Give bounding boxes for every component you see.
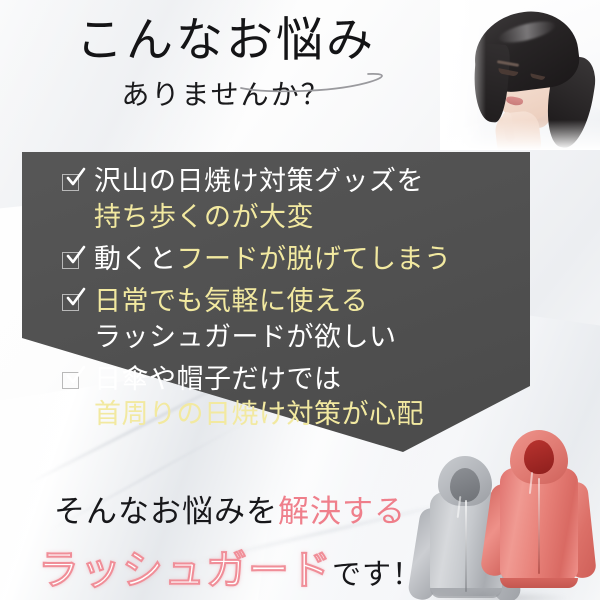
headline-main: こんなお悩み [0, 16, 452, 67]
list-item-line-accent: フードが脱げてしまう [177, 244, 452, 274]
bottom-text-dark: そんなお悩みを [54, 494, 278, 529]
list-item-line: 動くと [94, 244, 177, 274]
checkbox-checked-icon [62, 172, 84, 194]
bottom-text-accent: 解決する [278, 494, 406, 529]
promo-banner: こんなお悩み ありませんか？ 沢山の日焼け対策グッズを 持ち歩くのが大変 [0, 0, 600, 600]
coral-rash-guard [486, 428, 590, 588]
product-images [416, 420, 600, 600]
headline-sub: ありませんか？ [0, 73, 452, 113]
list-item-line: 日傘や帽子だけでは [94, 362, 342, 398]
product-name-highlight: ラッシュガード [38, 547, 332, 593]
list-item-line: 持ち歩くのが大変 [62, 200, 532, 236]
checkbox-checked-icon [62, 370, 84, 392]
problem-list: 沢山の日焼け対策グッズを 持ち歩くのが大変 動くとフードが脱げてしまう 日常でも… [62, 164, 532, 439]
list-item: 沢山の日焼け対策グッズを 持ち歩くのが大変 [62, 164, 532, 236]
list-item-line: 沢山の日焼け対策グッズを [94, 164, 424, 200]
headline-block: こんなお悩み ありませんか？ [0, 16, 452, 113]
checkbox-checked-icon [62, 250, 84, 272]
photo-fade-bottom [440, 120, 600, 150]
zipper-icon [538, 478, 540, 574]
hood-lining [524, 440, 554, 474]
list-item: 日常でも気軽に使える ラッシュガードが欲しい [62, 284, 532, 356]
list-item-line: 日常でも気軽に使える [94, 284, 368, 320]
hood-lining [450, 468, 480, 502]
jacket-hem [500, 578, 578, 588]
zipper-icon [465, 500, 467, 592]
model-photo [440, 0, 600, 150]
list-item: 動くとフードが脱げてしまう [62, 242, 532, 278]
checkbox-checked-icon [62, 292, 84, 314]
list-item-line: ラッシュガードが欲しい [62, 320, 532, 356]
